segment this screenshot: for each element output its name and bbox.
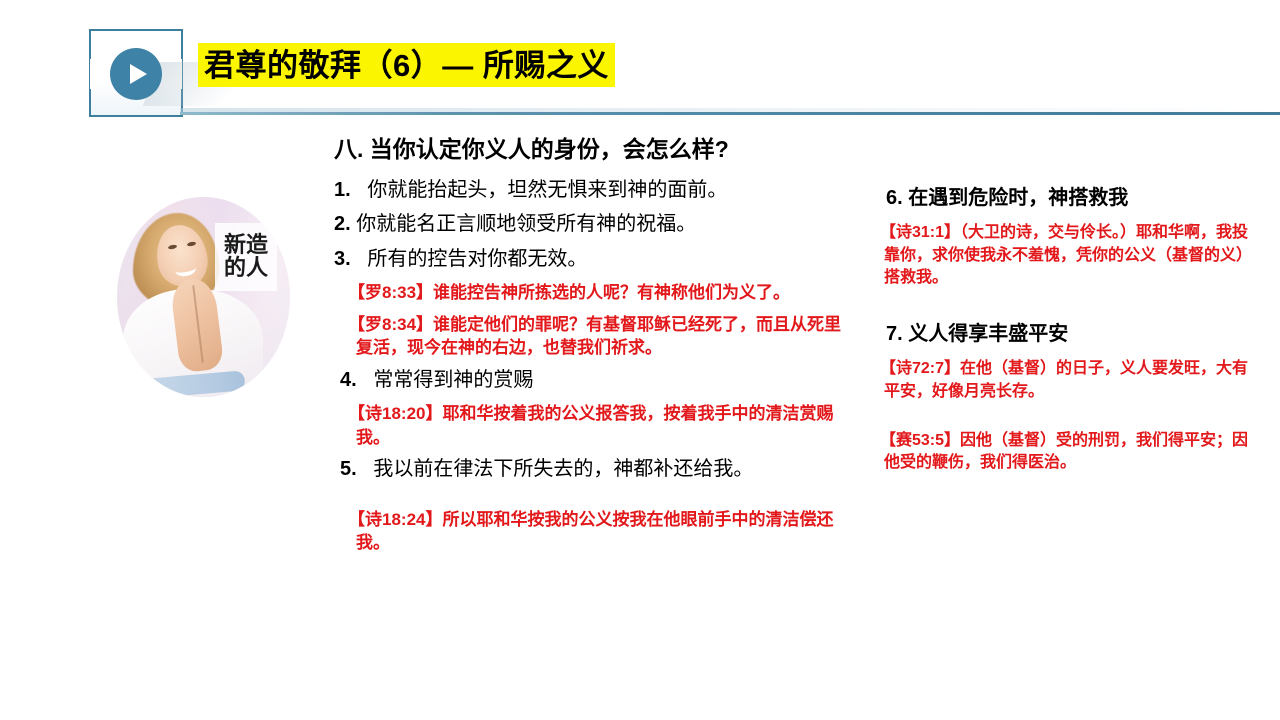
verse-isaiah-53-5: 【赛53:5】因他（基督）受的刑罚，我们得平安；因他受的鞭伤，我们得医治。	[872, 430, 1262, 475]
verse-rom-8-33: 【罗8:33】谁能控告神所拣选的人呢？有神称他们为义了。	[334, 281, 854, 304]
title-highlight: 君尊的敬拜（6）— 所赐之义	[198, 43, 615, 87]
verse-psalm-18-20: 【诗18:20】耶和华按着我的公义报答我，按着我手中的清洁赏赐我。	[334, 402, 854, 449]
verse-psalm-31-1: 【诗31:1】（大卫的诗，交与伶长。）耶和华啊，我投靠你，求你使我永不羞愧，凭你…	[872, 222, 1262, 290]
verse-psalm-18-24: 【诗18:24】所以耶和华按我的公义按我在他眼前手中的清洁偿还我。	[334, 508, 854, 555]
photo-caption: 新造 的人	[215, 223, 277, 291]
list-item-2-number: 2.	[334, 213, 351, 235]
section-heading-8: 八. 当你认定你义人的身份，会怎么样?	[334, 136, 854, 164]
photo-caption-line1: 新造	[224, 234, 268, 257]
list-item-6-number: 6.	[886, 187, 903, 209]
header-rule	[180, 112, 1280, 115]
list-item-4-number: 4.	[340, 369, 357, 391]
list-item-7-number: 7.	[886, 323, 903, 345]
play-triangle	[130, 64, 147, 84]
frame-notch-left	[90, 59, 93, 89]
list-item-2-text: 你就能名正言顺地领受所有神的祝福。	[356, 213, 696, 235]
spacer-before-isaiah-53-5	[872, 414, 1262, 430]
verse-psalm-72-7: 【诗72:7】在他（基督）的日子，义人要发旺，大有平安，好像月亮长存。	[872, 358, 1262, 403]
list-item-2: 2. 你就能名正言顺地领受所有神的祝福。	[334, 212, 854, 238]
list-item-4-text: 常常得到神的赏赐	[373, 369, 533, 391]
verse-rom-8-34: 【罗8:34】谁能定他们的罪呢？有基督耶稣已经死了，而且从死里复活，现今在神的右…	[334, 313, 854, 360]
list-item-5: 5. 我以前在律法下所失去的，神都补还给我。	[334, 457, 854, 483]
list-item-6-text: 在遇到危险时，神搭救我	[908, 187, 1128, 209]
praying-woman-photo: 新造 的人	[117, 197, 290, 397]
left-content-column: 八. 当你认定你义人的身份，会怎么样? 1. 你就能抬起头，坦然无惧来到神的面前…	[334, 136, 854, 563]
list-item-1: 1. 你就能抬起头，坦然无惧来到神的面前。	[334, 178, 854, 204]
list-item-1-number: 1.	[334, 179, 351, 201]
list-item-5-text: 我以前在律法下所失去的，神都补还给我。	[373, 458, 753, 480]
spacer-before-item-7	[872, 300, 1262, 322]
list-item-3-number: 3.	[334, 248, 351, 270]
frame-notch-right	[179, 59, 182, 89]
list-item-5-number: 5.	[340, 458, 357, 480]
page-title: 君尊的敬拜（6）— 所赐之义	[204, 50, 609, 81]
list-item-3: 3. 所有的控告对你都无效。	[334, 247, 854, 273]
list-item-3-text: 所有的控告对你都无效。	[367, 248, 587, 270]
slide-root: 君尊的敬拜（6）— 所赐之义 新造 的人 八. 当你认定你义人的身份，会怎么样?…	[0, 0, 1280, 720]
list-item-1-text: 你就能抬起头，坦然无惧来到神的面前。	[367, 179, 727, 201]
spacer-before-psalm-18-24	[334, 492, 854, 508]
list-item-7: 7. 义人得享丰盛平安	[872, 322, 1262, 346]
photo-caption-line2: 的人	[224, 257, 268, 280]
play-icon[interactable]	[110, 48, 162, 100]
list-item-4: 4. 常常得到神的赏赐	[334, 368, 854, 394]
list-item-6: 6. 在遇到危险时，神搭救我	[872, 186, 1262, 210]
list-item-7-text: 义人得享丰盛平安	[908, 323, 1068, 345]
right-content-column: 6. 在遇到危险时，神搭救我 【诗31:1】（大卫的诗，交与伶长。）耶和华啊，我…	[872, 186, 1262, 485]
